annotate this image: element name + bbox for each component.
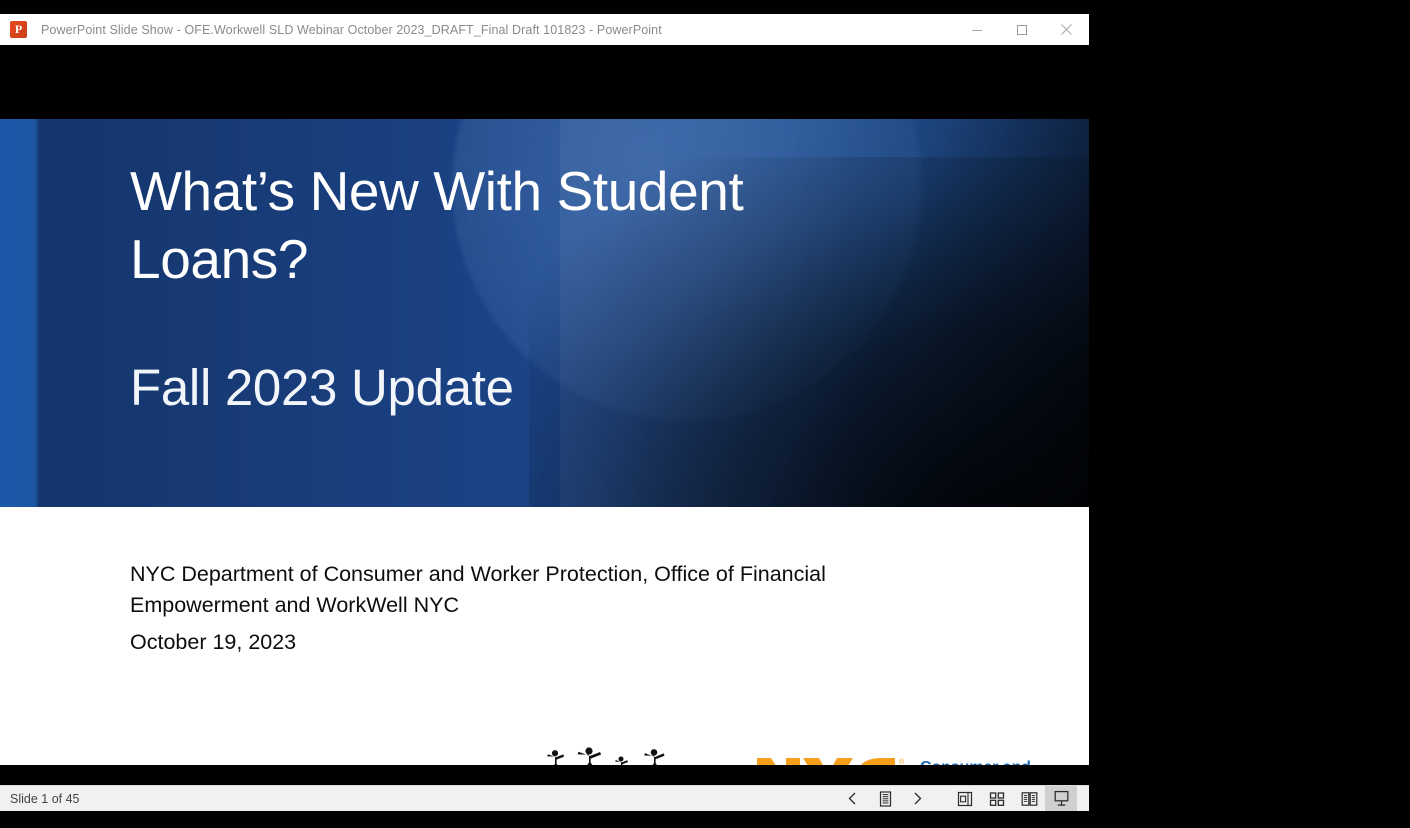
maximize-icon[interactable] <box>999 14 1044 45</box>
chevron-left-icon[interactable] <box>837 786 869 811</box>
slide-subtitle: Fall 2023 Update <box>130 357 514 418</box>
status-bar-spacer <box>933 786 949 811</box>
slide-canvas[interactable]: What’s New With Student Loans? Fall 2023… <box>0 119 1089 765</box>
slide-footer-band: NYC Department of Consumer and Worker Pr… <box>0 507 1089 765</box>
reading-view-icon[interactable] <box>1013 786 1045 811</box>
slide-title: What’s New With Student Loans? <box>130 157 890 293</box>
slide-show-icon[interactable] <box>1045 786 1077 811</box>
nyc-dcwp-logo: ® Consumer and Worker Protection <box>755 755 1057 766</box>
status-bar-right-edge <box>1077 786 1089 811</box>
presentation-date: October 19, 2023 <box>130 630 296 655</box>
chevron-right-icon[interactable] <box>901 786 933 811</box>
slide-counter: Slide 1 of 45 <box>10 792 80 806</box>
slide-sorter-icon[interactable] <box>981 786 1013 811</box>
nyc-mark-icon: ® <box>755 755 908 766</box>
workwell-nyc-logo: WorkWell NYC <box>537 747 733 765</box>
normal-view-icon[interactable] <box>949 786 981 811</box>
workwell-people-stars-icon <box>537 747 707 765</box>
window-title: PowerPoint Slide Show - OFE.Workwell SLD… <box>41 23 662 37</box>
nyc-department-text: Consumer and Worker Protection <box>920 758 1057 765</box>
desktop-backdrop: PowerPoint Slide Show - OFE.Workwell SLD… <box>0 0 1410 828</box>
slide-show-stage[interactable]: What’s New With Student Loans? Fall 2023… <box>0 45 1089 780</box>
slide-hero-background: What’s New With Student Loans? Fall 2023… <box>0 119 1089 507</box>
slide-menu-icon[interactable] <box>869 786 901 811</box>
powerpoint-window: PowerPoint Slide Show - OFE.Workwell SLD… <box>0 14 1089 811</box>
minimize-icon[interactable] <box>954 14 999 45</box>
logo-lockup: WorkWell NYC <box>537 747 1057 765</box>
status-bar-controls <box>837 786 1089 811</box>
svg-text:®: ® <box>899 758 905 766</box>
powerpoint-icon <box>10 21 27 38</box>
close-icon[interactable] <box>1044 14 1089 45</box>
organization-text: NYC Department of Consumer and Worker Pr… <box>130 559 960 620</box>
title-bar[interactable]: PowerPoint Slide Show - OFE.Workwell SLD… <box>0 14 1089 46</box>
window-controls <box>954 14 1089 45</box>
status-bar: Slide 1 of 45 <box>0 785 1089 811</box>
